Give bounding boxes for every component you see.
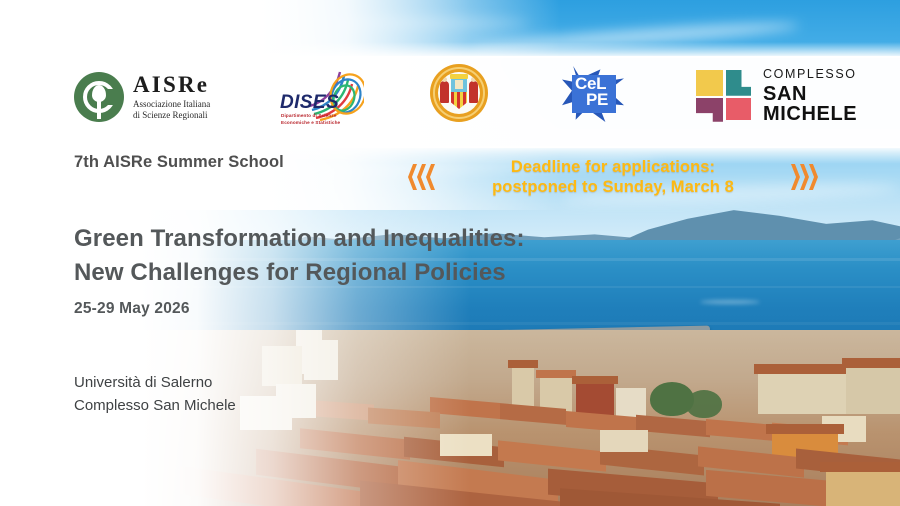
venue-line1: Università di Salerno: [74, 371, 236, 394]
aisre-logo-icon: [74, 72, 124, 122]
dises-subtitle-line1: Dipartimento di Scienze: [281, 112, 340, 119]
deadline-banner: Deadline for applications: postponed to …: [408, 153, 818, 201]
event-venue: Università di Salerno Complesso San Mich…: [74, 371, 236, 418]
csm-line1: COMPLESSO: [763, 68, 900, 81]
title-line2: New Challenges for Regional Policies: [74, 256, 525, 290]
page-title: Green Transformation and Inequalities: N…: [74, 222, 525, 290]
chevron-right-icon: [791, 164, 818, 190]
celpe-name-line2: PE: [586, 91, 608, 108]
csm-blocks-icon: [696, 70, 751, 122]
logo-row: AISRe Associazione Italiana di Scienze R…: [0, 56, 900, 148]
dises-name: DISES: [280, 92, 339, 114]
event-dates: 25-29 May 2026: [74, 300, 190, 318]
logo-dises: DISES Dipartimento di Scienze Economiche…: [278, 68, 362, 130]
logo-aisre: AISRe Associazione Italiana di Scienze R…: [74, 72, 210, 122]
deadline-line2: postponed to Sunday, March 8: [444, 177, 782, 197]
deadline-line1: Deadline for applications:: [444, 157, 782, 177]
aisre-name: AISRe: [133, 73, 210, 96]
logo-universita-salerno: [430, 64, 488, 122]
logo-celpe: CeL PE: [562, 66, 624, 122]
event-kicker: 7th AISRe Summer School: [74, 153, 284, 172]
venue-line2: Complesso San Michele: [74, 394, 236, 417]
title-line1: Green Transformation and Inequalities:: [74, 222, 525, 256]
logo-complesso-san-michele: COMPLESSO SAN MICHELE: [696, 68, 900, 124]
chevron-left-icon: [408, 164, 435, 190]
csm-line2: SAN MICHELE: [763, 84, 900, 124]
poster: AISRe Associazione Italiana di Scienze R…: [0, 0, 900, 506]
aisre-subtitle-line1: Associazione Italiana: [133, 99, 210, 110]
dises-subtitle-line2: Economiche e Statistiche: [281, 119, 340, 126]
unisa-seal-icon: [430, 64, 488, 122]
aisre-subtitle-line2: di Scienze Regionali: [133, 110, 210, 121]
